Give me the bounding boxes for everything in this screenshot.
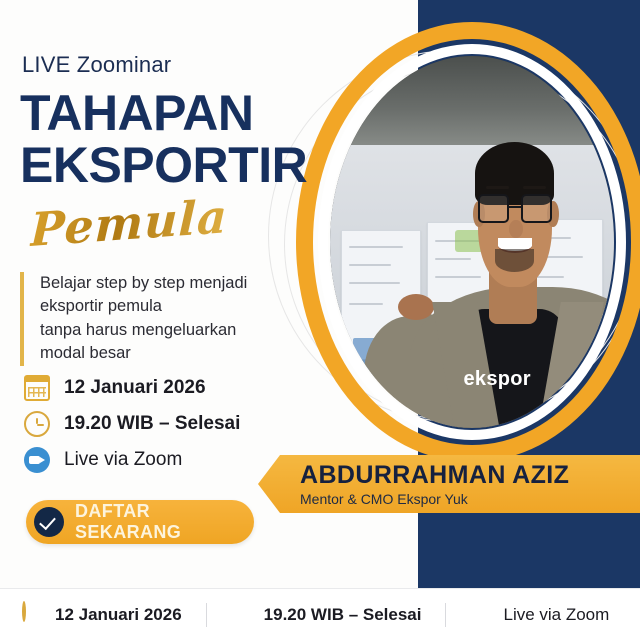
zoom-camera-icon bbox=[22, 445, 52, 475]
clock-icon bbox=[22, 409, 52, 439]
check-circle-icon bbox=[34, 507, 64, 537]
footer-platform-text: Live via Zoom bbox=[503, 605, 609, 625]
event-time-text: 19.20 WIB – Selesai bbox=[64, 413, 240, 435]
speaker-photo: ekspor bbox=[330, 56, 614, 428]
event-platform-text: Live via Zoom bbox=[64, 449, 182, 471]
calendar-icon bbox=[22, 373, 52, 403]
description-line: Belajar step by step menjadi bbox=[40, 272, 310, 295]
glasses-icon bbox=[478, 194, 552, 224]
photo-ceiling bbox=[330, 56, 614, 153]
footer-date-text: 12 Januari 2026 bbox=[55, 605, 182, 625]
description-line: modal besar bbox=[40, 342, 310, 365]
description-line: eksportir pemula bbox=[40, 295, 310, 318]
description-block: Belajar step by step menjadi eksportir p… bbox=[20, 272, 310, 366]
zoom-camera-icon bbox=[470, 603, 494, 627]
zoom-camera-icon bbox=[231, 603, 255, 627]
speaker-name-banner: ABDURRAHMAN AZIZ Mentor & CMO Ekspor Yuk bbox=[258, 455, 640, 513]
photo-scene: ekspor bbox=[330, 56, 614, 428]
footer-item-time: 19.20 WIB – Selesai bbox=[231, 589, 422, 640]
clock-icon bbox=[22, 603, 46, 627]
event-kicker: LIVE Zoominar bbox=[22, 52, 171, 78]
page-title-script-word: Pemula bbox=[29, 189, 228, 257]
footer-divider bbox=[206, 603, 207, 627]
footer-item-platform: Live via Zoom bbox=[470, 589, 609, 640]
photo-subject-beard bbox=[495, 249, 535, 271]
event-details-list: 12 Januari 2026 19.20 WIB – Selesai Live… bbox=[22, 370, 240, 478]
register-button[interactable]: DAFTAR SEKARANG bbox=[26, 500, 254, 544]
event-detail-time: 19.20 WIB – Selesai bbox=[22, 406, 240, 442]
page-title-line-2: EKSPORTIR bbox=[20, 140, 307, 190]
footer-time-text: 19.20 WIB – Selesai bbox=[264, 605, 422, 625]
footer-divider bbox=[445, 603, 446, 627]
event-detail-date: 12 Januari 2026 bbox=[22, 370, 240, 406]
shirt-text: ekspor bbox=[463, 368, 530, 391]
event-detail-platform: Live via Zoom bbox=[22, 442, 240, 478]
event-date-text: 12 Januari 2026 bbox=[64, 377, 206, 399]
description-line: tanpa harus mengeluarkan bbox=[40, 319, 310, 342]
speaker-role: Mentor & CMO Ekspor Yuk bbox=[300, 491, 640, 507]
footer-item-date: 12 Januari 2026 bbox=[22, 589, 182, 640]
footer-bar: 12 Januari 2026 19.20 WIB – Selesai Live… bbox=[0, 588, 640, 640]
speaker-name: ABDURRAHMAN AZIZ bbox=[300, 462, 640, 488]
webinar-poster: ekspor ABDURRAHMAN AZIZ Mentor & CMO Eks… bbox=[0, 0, 640, 640]
page-title-line-1: TAHAPAN bbox=[20, 88, 254, 138]
register-button-label: DAFTAR SEKARANG bbox=[75, 501, 254, 543]
